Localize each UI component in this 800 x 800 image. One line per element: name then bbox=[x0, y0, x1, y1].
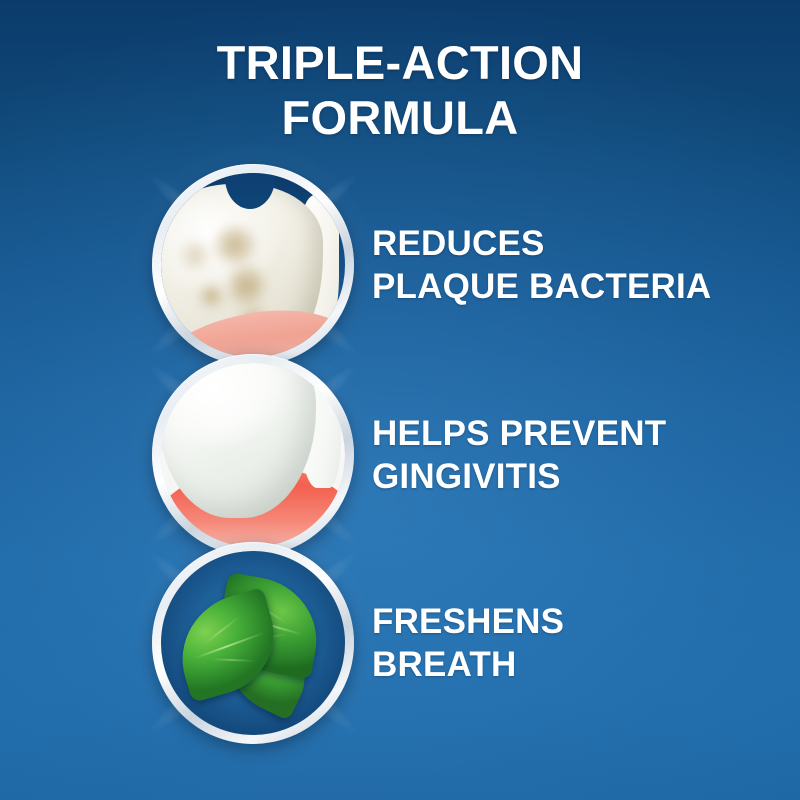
leaf-vein bbox=[194, 632, 264, 659]
feature-label: FRESHENS BREATH bbox=[372, 600, 564, 686]
plaque-spot bbox=[228, 261, 265, 311]
plaque-spot bbox=[181, 238, 210, 272]
product-benefits-panel: TRIPLE-ACTION FORMULA bbox=[0, 0, 800, 800]
feature-row: FRESHENS BREATH bbox=[0, 538, 800, 748]
feature-icon-wrap bbox=[152, 164, 354, 366]
plaque-spot bbox=[211, 226, 258, 264]
feature-row: HELPS PREVENT GINGIVITIS bbox=[0, 350, 800, 560]
plaque-scene bbox=[161, 173, 345, 357]
page-title: TRIPLE-ACTION FORMULA bbox=[0, 36, 800, 146]
plaque-spot bbox=[198, 284, 225, 309]
medallion-inner bbox=[161, 551, 345, 735]
tooth-with-plaque-icon bbox=[152, 164, 354, 366]
feature-icon-wrap bbox=[152, 354, 354, 556]
feature-icon-wrap bbox=[152, 542, 354, 744]
leaf-vein bbox=[210, 658, 256, 662]
feature-label: REDUCES PLAQUE BACTERIA bbox=[372, 222, 711, 308]
mint-leaves-icon bbox=[152, 542, 354, 744]
leaf-vein bbox=[203, 615, 240, 645]
mint-scene bbox=[161, 551, 345, 735]
feature-row: REDUCES PLAQUE BACTERIA bbox=[0, 160, 800, 370]
feature-label: HELPS PREVENT GINGIVITIS bbox=[372, 412, 666, 498]
tooth-with-inflamed-gum-icon bbox=[152, 354, 354, 556]
gingivitis-scene bbox=[161, 363, 345, 547]
medallion-inner bbox=[161, 173, 345, 357]
medallion-inner bbox=[161, 363, 345, 547]
